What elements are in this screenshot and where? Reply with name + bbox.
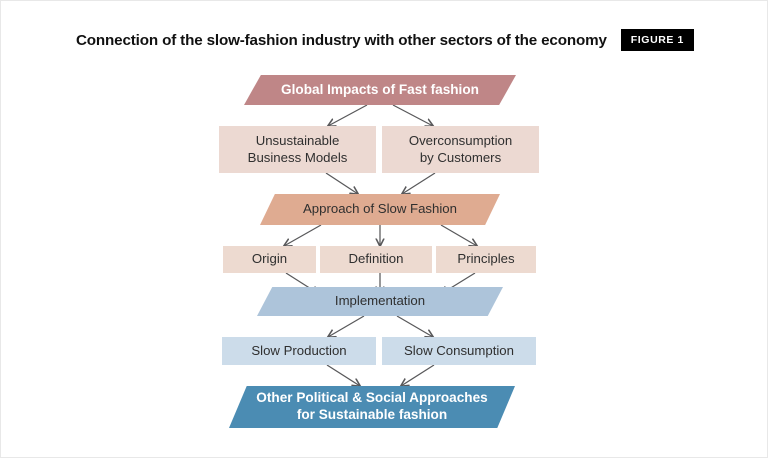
edge-implementation-to-slow-production — [328, 316, 364, 337]
edge-global-to-unsustainable — [328, 105, 367, 126]
node-label-line2: by Customers — [409, 150, 512, 166]
flowchart: Global Impacts of Fast fashion Unsustain… — [1, 1, 768, 458]
node-label: Slow Production — [251, 343, 346, 359]
node-global-impacts[interactable]: Global Impacts of Fast fashion — [244, 75, 516, 105]
edge-approach-to-origin — [284, 225, 321, 246]
edge-approach-to-principles — [441, 225, 477, 246]
node-label: Definition — [349, 251, 404, 267]
node-approach-of-slow-fashion[interactable]: Approach of Slow Fashion — [260, 194, 500, 225]
figure-card: Connection of the slow-fashion industry … — [0, 0, 768, 458]
node-principles[interactable]: Principles — [436, 246, 536, 273]
node-label-line1: Overconsumption — [409, 133, 512, 149]
edge-unsustainable-to-approach — [326, 173, 358, 194]
node-label: Global Impacts of Fast fashion — [281, 82, 479, 99]
edge-overconsumption-to-approach — [402, 173, 435, 194]
node-slow-consumption[interactable]: Slow Consumption — [382, 337, 536, 365]
edge-implementation-to-slow-consumption — [397, 316, 433, 337]
node-implementation[interactable]: Implementation — [257, 287, 503, 316]
node-label-line1: Other Political & Social Approaches — [256, 390, 487, 407]
edge-slow-production-to-other — [327, 365, 360, 386]
node-label-line1: Unsustainable — [248, 133, 348, 149]
node-unsustainable-business-models[interactable]: Unsustainable Business Models — [219, 126, 376, 173]
node-label: Implementation — [335, 293, 425, 309]
node-label: Approach of Slow Fashion — [303, 201, 457, 217]
node-definition[interactable]: Definition — [320, 246, 432, 273]
node-label: Origin — [252, 251, 287, 267]
node-other-political-social-approaches[interactable]: Other Political & Social Approaches for … — [229, 386, 515, 428]
node-label: Slow Consumption — [404, 343, 514, 359]
node-origin[interactable]: Origin — [223, 246, 316, 273]
edge-slow-consumption-to-other — [401, 365, 434, 386]
node-label-line2: Business Models — [248, 150, 348, 166]
node-label: Principles — [457, 251, 514, 267]
node-label-line2: for Sustainable fashion — [256, 407, 487, 424]
node-overconsumption-by-customers[interactable]: Overconsumption by Customers — [382, 126, 539, 173]
edge-global-to-overconsumption — [393, 105, 433, 126]
node-slow-production[interactable]: Slow Production — [222, 337, 376, 365]
